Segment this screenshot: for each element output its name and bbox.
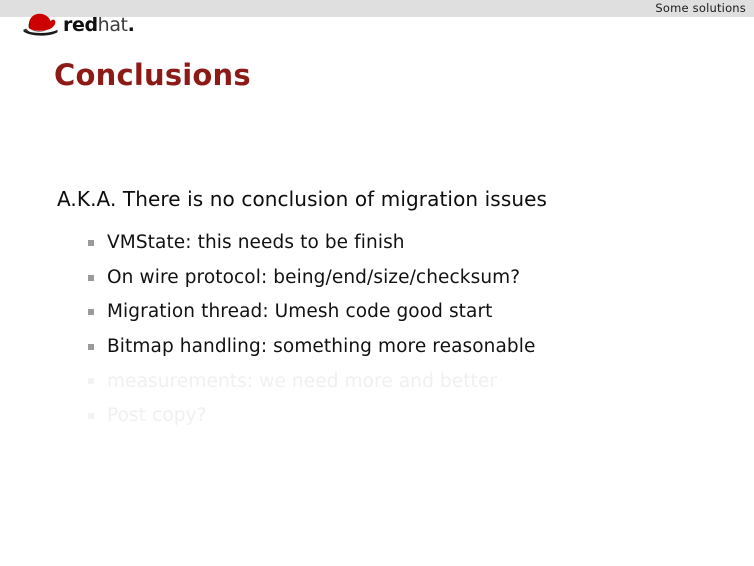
list-item-label: VMState: this needs to be finish bbox=[107, 231, 405, 255]
list-item-label: On wire protocol: being/end/size/checksu… bbox=[107, 266, 520, 290]
logo-word-red: red bbox=[63, 14, 98, 36]
square-bullet-icon bbox=[88, 240, 94, 246]
lead-statement: A.K.A. There is no conclusion of migrati… bbox=[57, 186, 547, 212]
square-bullet-icon bbox=[88, 275, 94, 281]
logo-word-hat: hat bbox=[98, 14, 128, 36]
list-item-hidden: Post copy? bbox=[88, 399, 728, 434]
bullet-list: VMState: this needs to be finish On wire… bbox=[88, 226, 728, 434]
list-item-label: Post copy? bbox=[107, 404, 207, 428]
list-item: VMState: this needs to be finish bbox=[88, 226, 728, 261]
red-hat-wordmark: redhat. bbox=[63, 16, 134, 35]
list-item: Bitmap handling: something more reasonab… bbox=[88, 330, 728, 365]
page-title: Conclusions bbox=[54, 58, 251, 92]
logo-word-dot: . bbox=[128, 14, 135, 36]
red-hat-shadowman-icon bbox=[22, 11, 62, 37]
list-item-label: measurements: we need more and better bbox=[107, 370, 497, 394]
section-title: Some solutions bbox=[655, 1, 746, 16]
list-item-label: Bitmap handling: something more reasonab… bbox=[107, 335, 536, 359]
list-item-label: Migration thread: Umesh code good start bbox=[107, 300, 493, 324]
list-item: On wire protocol: being/end/size/checksu… bbox=[88, 261, 728, 296]
list-item-hidden: measurements: we need more and better bbox=[88, 364, 728, 399]
square-bullet-icon bbox=[88, 378, 94, 384]
presentation-slide: Some solutions redhat. Conclusions A.K.A… bbox=[0, 0, 754, 566]
list-item: Migration thread: Umesh code good start bbox=[88, 295, 728, 330]
square-bullet-icon bbox=[88, 309, 94, 315]
red-hat-logo: redhat. bbox=[22, 10, 134, 38]
square-bullet-icon bbox=[88, 413, 94, 419]
square-bullet-icon bbox=[88, 344, 94, 350]
